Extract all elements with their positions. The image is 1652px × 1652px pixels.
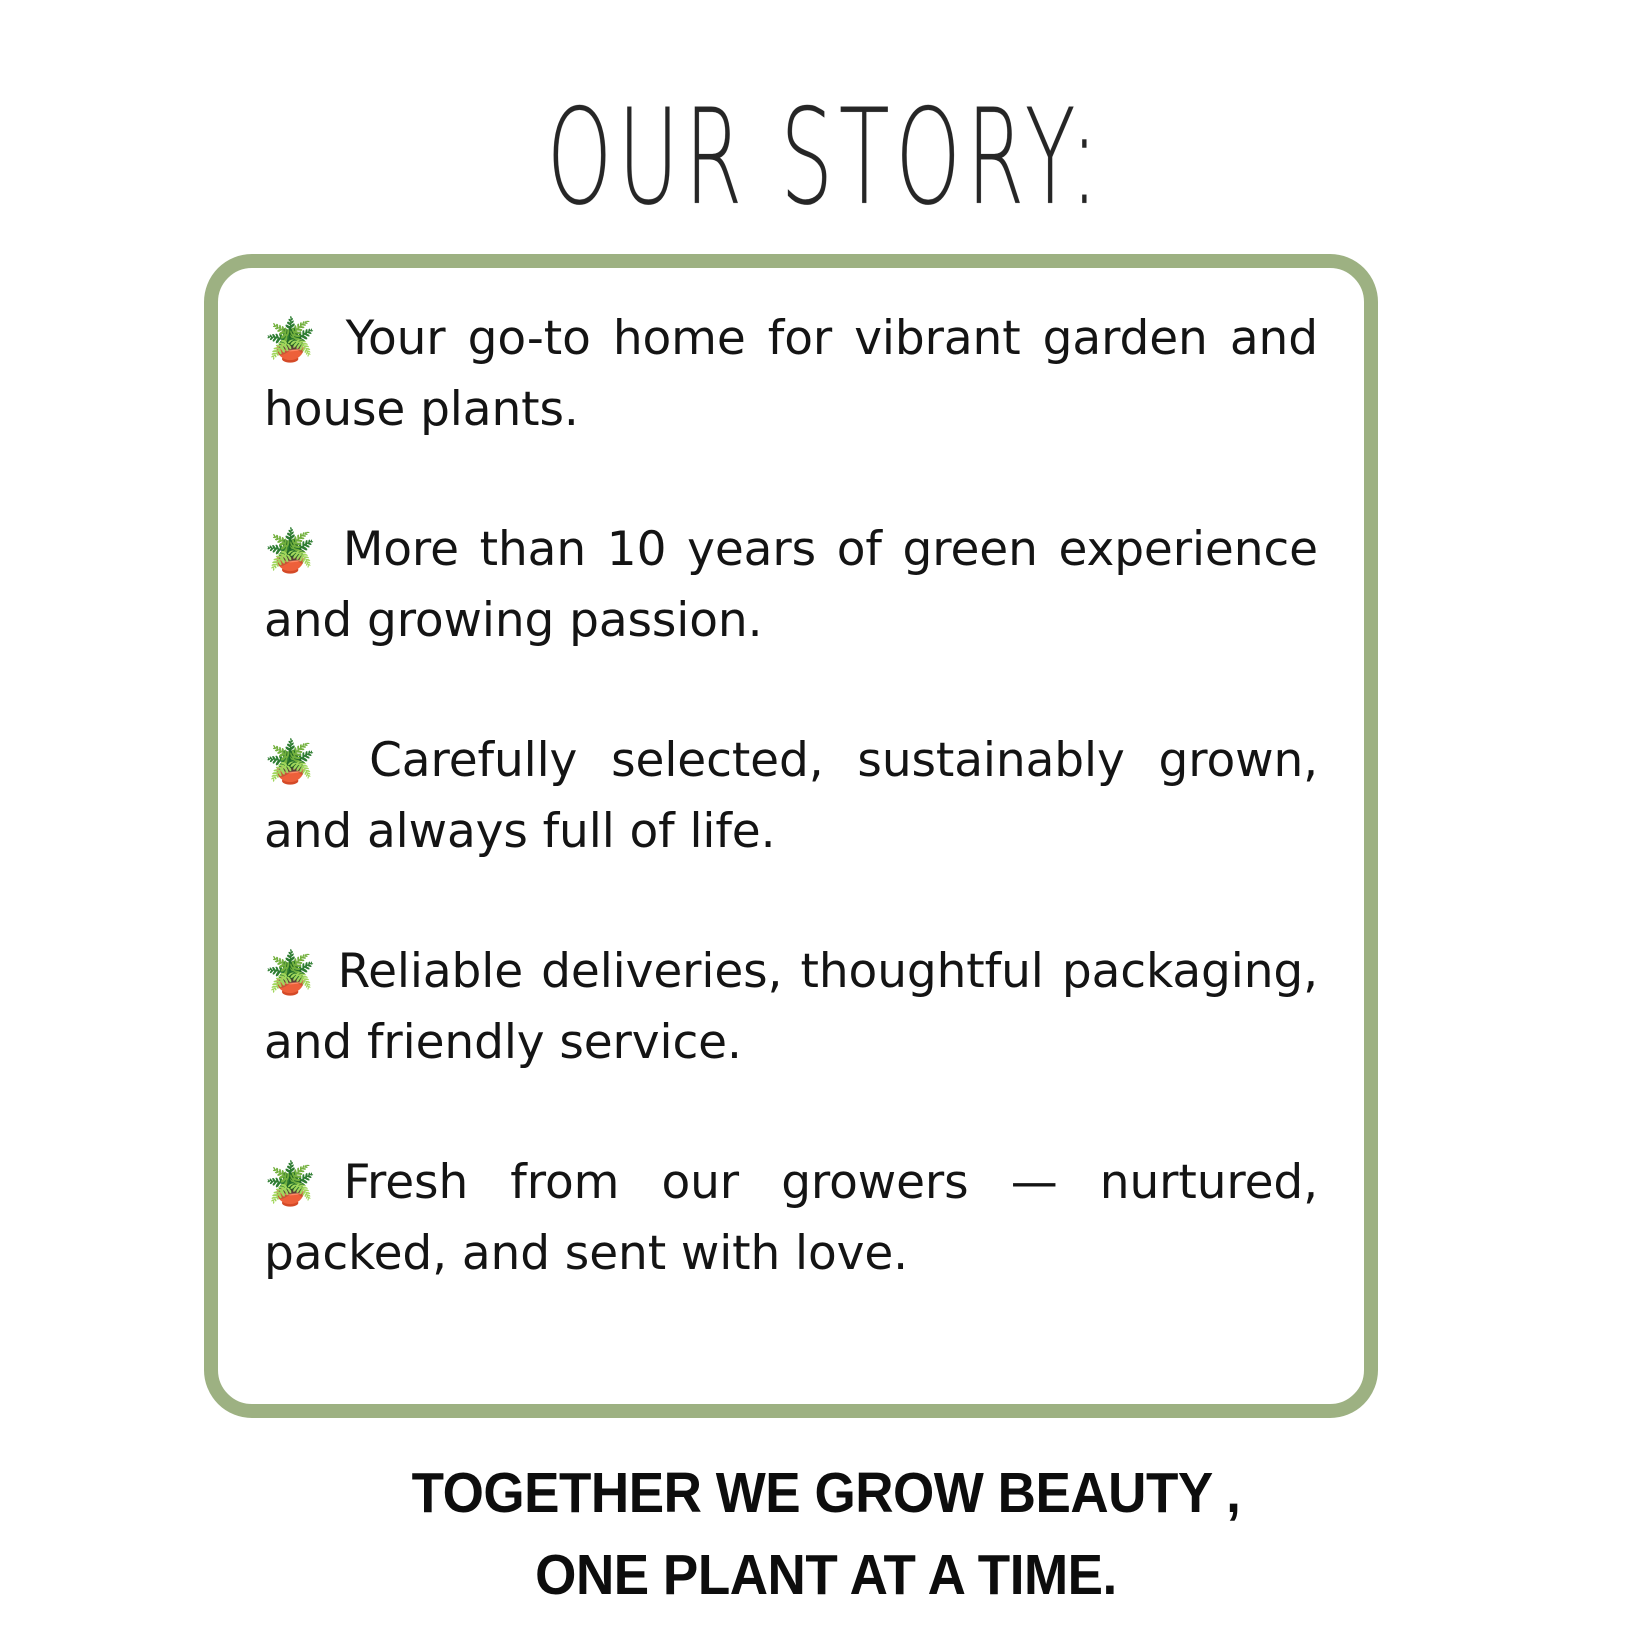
- potted-plant-icon: 🪴: [264, 315, 323, 364]
- list-item-text: Your go-to home for vibrant garden and h…: [264, 311, 1318, 437]
- story-card-content: 🪴 Your go-to home for vibrant garden and…: [264, 304, 1318, 1374]
- page-title-container: OUR STORY:: [0, 92, 1652, 202]
- potted-plant-icon: 🪴: [264, 737, 335, 786]
- list-item: 🪴 Your go-to home for vibrant garden and…: [264, 304, 1318, 445]
- story-card: 🪴 Your go-to home for vibrant garden and…: [204, 254, 1378, 1418]
- list-item: 🪴Fresh from our growers — nurtured, pack…: [264, 1148, 1318, 1289]
- list-item-text: Reliable deliveries, thoughtful packagin…: [264, 944, 1318, 1070]
- list-item-text: More than 10 years of green experience a…: [264, 522, 1318, 648]
- page-title: OUR STORY:: [547, 92, 1104, 224]
- list-item: 🪴 Reliable deliveries, thoughtful packag…: [264, 937, 1318, 1078]
- list-item-text: Fresh from our growers — nurtured, packe…: [264, 1155, 1318, 1281]
- list-item: 🪴 Carefully selected, sustainably grown,…: [264, 726, 1318, 867]
- our-story-poster: OUR STORY: 🪴 Your go-to home for vibrant…: [0, 0, 1652, 1652]
- potted-plant-icon: 🪴: [264, 526, 322, 575]
- list-item: 🪴 More than 10 years of green experience…: [264, 515, 1318, 656]
- footer-tagline-line-1: TOGETHER WE GROW BEAUTY ,: [58, 1452, 1594, 1534]
- potted-plant-icon: 🪴: [264, 948, 320, 997]
- potted-plant-icon: 🪴: [264, 1159, 344, 1208]
- footer-tagline: TOGETHER WE GROW BEAUTY , ONE PLANT AT A…: [58, 1452, 1594, 1616]
- list-item-text: Carefully selected, sustainably grown, a…: [264, 733, 1318, 859]
- footer-tagline-line-2: ONE PLANT AT A TIME.: [58, 1534, 1594, 1616]
